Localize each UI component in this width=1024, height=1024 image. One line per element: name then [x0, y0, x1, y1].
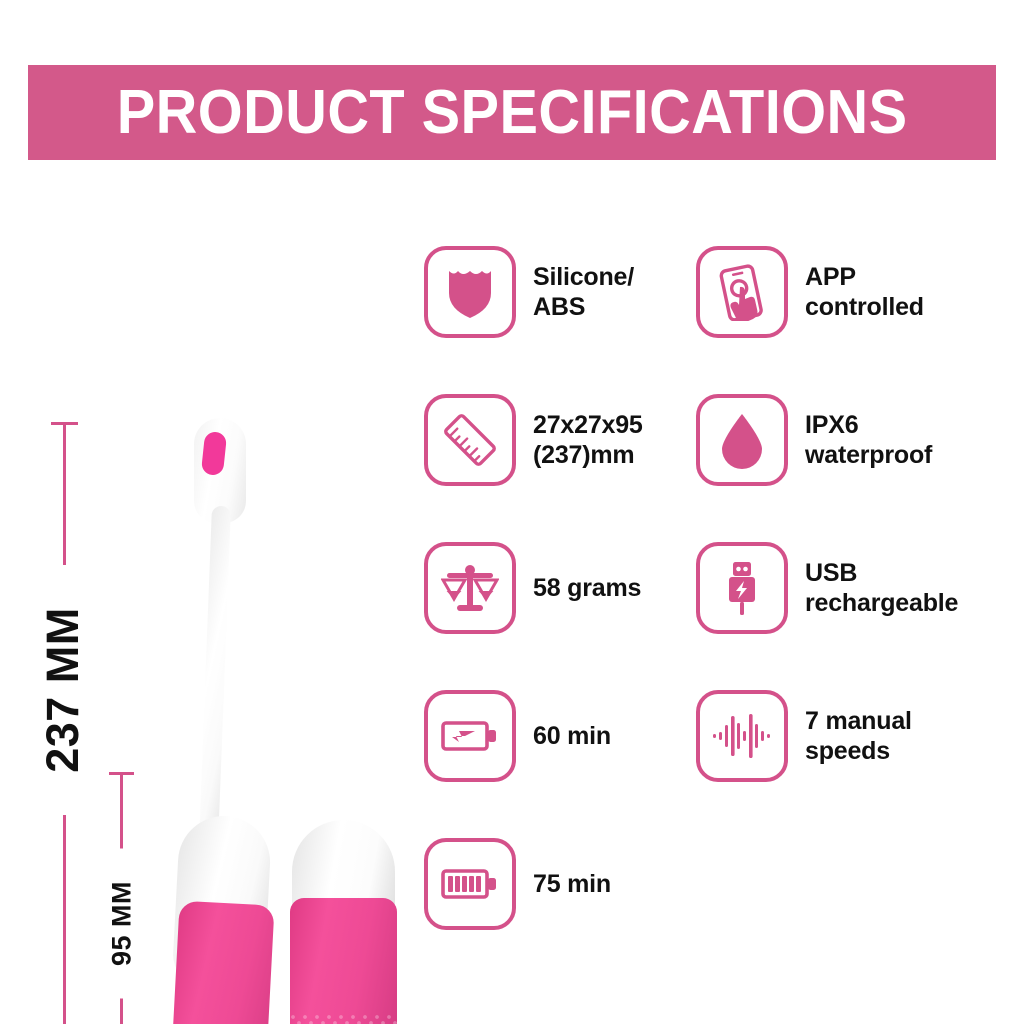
spec-item-waterproof: IPX6 waterproof: [696, 391, 958, 489]
spec-item-size: 27x27x95 (237)mm: [424, 391, 643, 489]
spec-item-charge-time: 60 min: [424, 687, 643, 785]
product-image-egg: [288, 820, 398, 1024]
spec-column-left: Silicone/ ABS: [424, 243, 643, 983]
spec-item-speeds: 7 manual speeds: [696, 687, 958, 785]
page-title: PRODUCT SPECIFICATIONS: [117, 82, 908, 144]
waveform-icon: [696, 690, 788, 782]
spec-item-material: Silicone/ ABS: [424, 243, 643, 341]
phone-touch-icon: [696, 246, 788, 338]
spec-item-app-control: APP controlled: [696, 243, 958, 341]
spec-column-right: APP controlled IPX6 waterproof: [696, 243, 958, 835]
egg-body-pink: [290, 898, 397, 1024]
wand-body-pink: [168, 901, 274, 1024]
title-banner: PRODUCT SPECIFICATIONS: [28, 65, 996, 160]
battery-charging-icon: [424, 690, 516, 782]
battery-full-icon: [424, 838, 516, 930]
dimension-237-label: 237 MM: [33, 565, 93, 815]
spec-label-weight: 58 grams: [533, 573, 641, 604]
spec-label-app-control: APP controlled: [805, 262, 924, 323]
wand-stem: [198, 506, 231, 866]
water-drop-icon: [696, 394, 788, 486]
spec-label-speeds: 7 manual speeds: [805, 706, 912, 767]
spec-item-weight: 58 grams: [424, 539, 643, 637]
product-dimension-zone: 237 MM 95 MM 27 MM 37 MM: [0, 180, 420, 980]
spec-label-charge-time: 60 min: [533, 721, 611, 752]
product-specifications-infographic: PRODUCT SPECIFICATIONS 237 MM 95 MM: [0, 0, 1024, 1024]
spec-label-run-time: 75 min: [533, 869, 611, 900]
spec-label-material: Silicone/ ABS: [533, 262, 634, 323]
ruler-icon: [424, 394, 516, 486]
spec-label-usb: USB rechargeable: [805, 558, 958, 619]
shield-icon: [424, 246, 516, 338]
spec-label-size: 27x27x95 (237)mm: [533, 410, 643, 471]
product-image-wand: [168, 418, 278, 1024]
usb-plug-icon: [696, 542, 788, 634]
spec-label-waterproof: IPX6 waterproof: [805, 410, 932, 471]
dimension-95-label: 95 MM: [104, 849, 141, 999]
spec-item-usb: USB rechargeable: [696, 539, 958, 637]
spec-item-run-time: 75 min: [424, 835, 643, 933]
scale-icon: [424, 542, 516, 634]
